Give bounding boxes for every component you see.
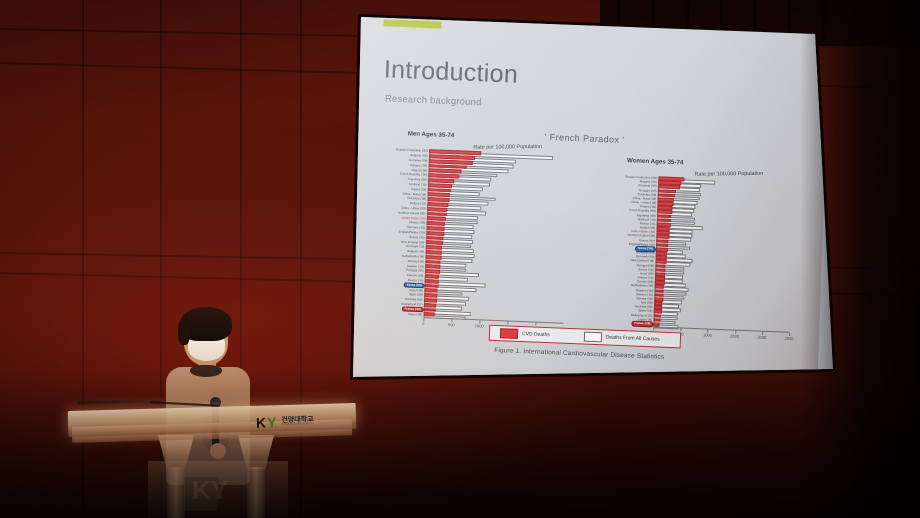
- legend-label-all-causes: Deaths From All Causes: [606, 334, 660, 342]
- chart-women-ages-35-74: Women Ages 35-74 Rate per 100,000 Popula…: [593, 162, 798, 332]
- chart-men-bars: Russian Federation ('06)Bulgaria ('08)Ro…: [424, 149, 570, 323]
- chart-men-title: Men Ages 35-74: [408, 130, 455, 139]
- axis-tick-label: 0: [422, 321, 424, 326]
- axis-tick-label: 500: [448, 322, 455, 327]
- chart-men-axis-title: Rate per 100,000 Population: [473, 144, 542, 151]
- chart-category-label: Japan ('09): [408, 313, 424, 317]
- axis-tick-label: 1000: [703, 332, 712, 337]
- slide-subtitle: Research background: [385, 93, 482, 108]
- chart-men-ages-35-74: Men Ages 35-74 Rate per 100,000 Populati…: [358, 135, 574, 323]
- legend-item-cvd-deaths: CVD Deaths: [500, 328, 550, 340]
- chart-category-label: France ('08): [631, 321, 653, 328]
- slide-accent-bar: [383, 19, 441, 28]
- projection-screen: Introduction Research background ' Frenc…: [344, 6, 844, 386]
- chart-women-title: Women Ages 35-74: [627, 157, 684, 166]
- axis-tick-label: 1000: [475, 323, 484, 328]
- legend-swatch-white: [584, 332, 602, 343]
- legend-item-all-causes: Deaths From All Causes: [584, 332, 660, 345]
- presenter-hair-side: [178, 319, 190, 345]
- axis-tick-label: 2500: [784, 336, 793, 341]
- slide-title: Introduction: [383, 55, 518, 89]
- legend-label-cvd-deaths: CVD Deaths: [522, 331, 550, 338]
- figure-caption: Figure 1. International Cardiovascular D…: [340, 341, 818, 367]
- bar-cvd-deaths: [424, 312, 435, 316]
- axis-tick-label: 1500: [730, 333, 739, 338]
- presentation-slide: Introduction Research background ' Frenc…: [340, 16, 830, 393]
- chart-women-bars: Russian Federation ('06)Bulgaria ('08)Ro…: [653, 176, 794, 331]
- chart-category-label: Netherlands ('09): [402, 255, 426, 259]
- projection-screen-frame: Introduction Research background ' Frenc…: [344, 6, 844, 386]
- auditorium-scene: Introduction Research background ' Frenc…: [0, 0, 920, 518]
- axis-tick-label: 2000: [757, 335, 766, 340]
- scene-shadow-bottom: [0, 368, 920, 518]
- chart-women-axis-title: Rate per 100,000 Population: [695, 171, 764, 178]
- legend-swatch-red: [500, 328, 518, 339]
